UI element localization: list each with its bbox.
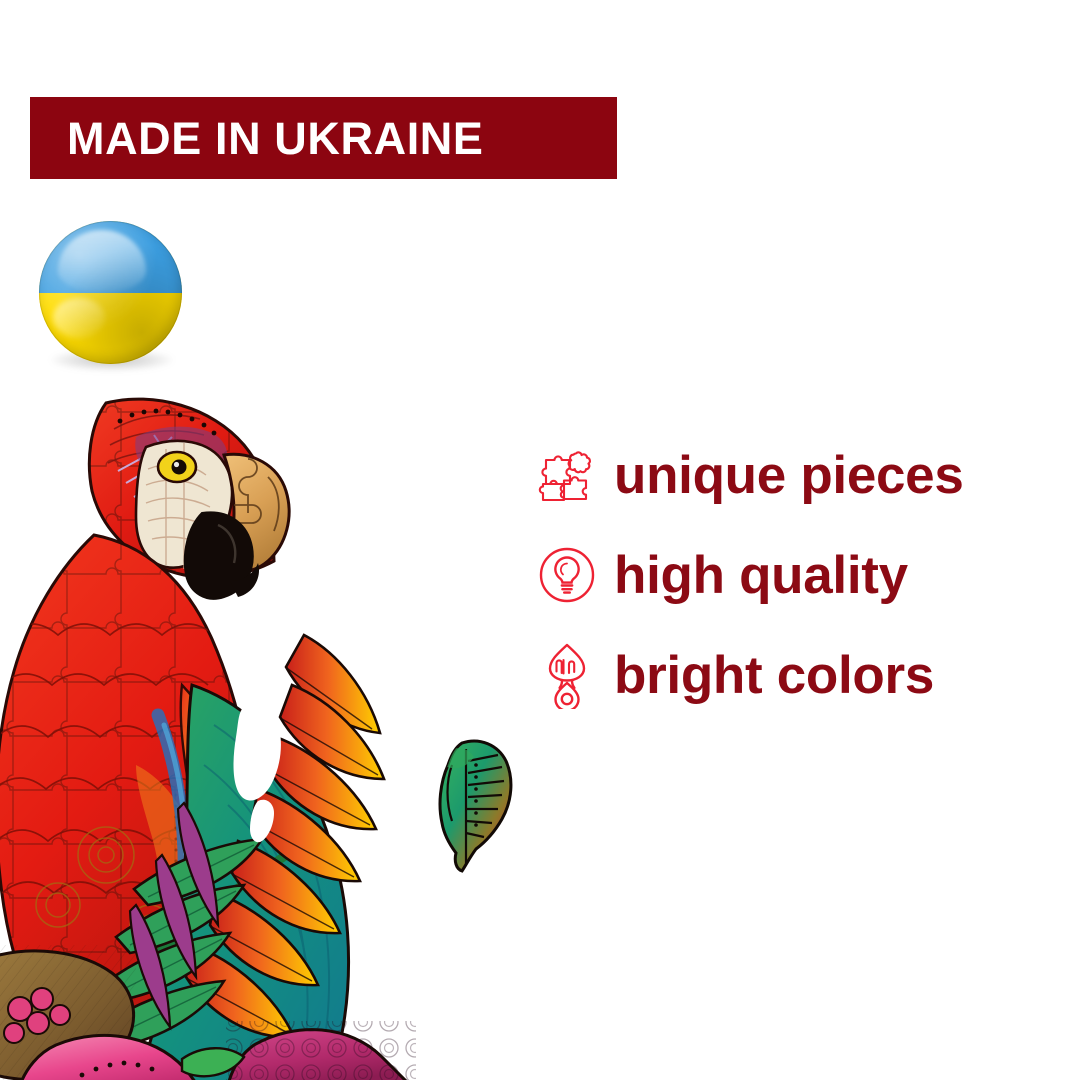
parrot-eye — [158, 452, 196, 482]
paintbrush-icon — [536, 642, 600, 708]
made-in-ukraine-banner: MADE IN UKRAINE — [30, 97, 617, 179]
feature-item-high-quality: high quality — [536, 525, 1036, 625]
parrot-puzzle-artwork — [0, 385, 426, 1080]
flag-rim — [39, 221, 182, 364]
feature-item-bright-colors: bright colors — [536, 625, 1036, 725]
feature-label-bright-colors: bright colors — [614, 649, 934, 702]
ukraine-flag-icon — [39, 221, 182, 364]
feature-label-high-quality: high quality — [614, 549, 908, 602]
feature-label-unique-pieces: unique pieces — [614, 449, 964, 502]
puzzle-pieces-icon — [536, 442, 600, 508]
feature-item-unique-pieces: unique pieces — [536, 425, 1036, 525]
loose-puzzle-piece — [432, 735, 518, 875]
promo-page: MADE IN UKRAINE — [0, 0, 1080, 1080]
made-in-ukraine-label: MADE IN UKRAINE — [67, 116, 484, 161]
lightbulb-circle-icon — [536, 542, 600, 608]
feature-list: unique pieces high quality — [536, 425, 1036, 725]
